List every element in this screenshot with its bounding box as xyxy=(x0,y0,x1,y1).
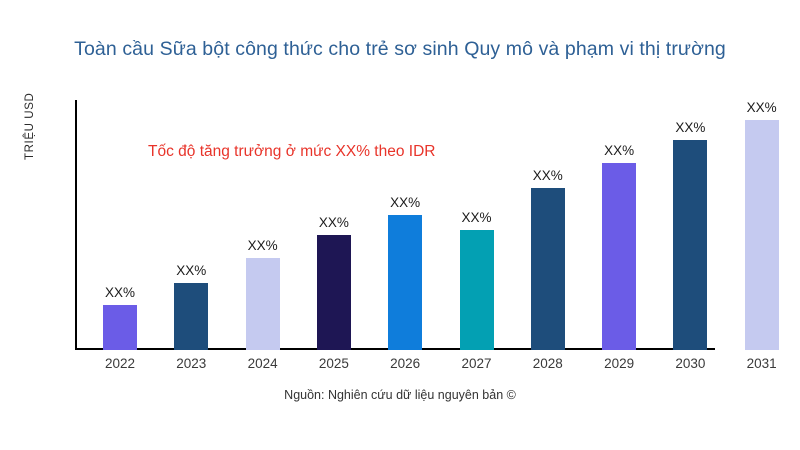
x-axis-tick-label: 2025 xyxy=(303,356,365,371)
x-axis-tick-label: 2023 xyxy=(160,356,222,371)
bar xyxy=(246,258,280,351)
x-axis-tick-label: 2026 xyxy=(374,356,436,371)
x-axis-tick-label: 2027 xyxy=(446,356,508,371)
bar xyxy=(388,215,422,350)
bar-value-label: XX% xyxy=(89,285,151,300)
bar xyxy=(460,230,494,350)
bar xyxy=(174,283,208,351)
x-axis-tick-label: 2031 xyxy=(731,356,793,371)
bar-value-label: XX% xyxy=(659,120,721,135)
bar-group: XX% xyxy=(673,100,707,350)
bar-group: XX% xyxy=(531,100,565,350)
bar-chart: Toàn cầu Sữa bột công thức cho trẻ sơ si… xyxy=(0,0,800,450)
bar-group: XX% xyxy=(602,100,636,350)
bars-container: XX%XX%XX%XX%XX%XX%XX%XX%XX%XX% xyxy=(75,100,795,350)
chart-title: Toàn cầu Sữa bột công thức cho trẻ sơ si… xyxy=(0,38,800,61)
bar-value-label: XX% xyxy=(517,168,579,183)
bar-group: XX% xyxy=(246,100,280,350)
bar xyxy=(531,188,565,351)
source-note: Nguồn: Nghiên cứu dữ liệu nguyên bản © xyxy=(0,388,800,402)
bar-group: XX% xyxy=(745,100,779,350)
bar-group: XX% xyxy=(388,100,422,350)
bar-group: XX% xyxy=(460,100,494,350)
bar-value-label: XX% xyxy=(446,210,508,225)
bar xyxy=(602,163,636,351)
y-axis-title: TRIỆU USD xyxy=(24,40,36,160)
bar-value-label: XX% xyxy=(731,100,793,115)
bar xyxy=(317,235,351,350)
bar xyxy=(103,305,137,350)
bar xyxy=(745,120,779,350)
bar-group: XX% xyxy=(103,100,137,350)
x-axis-tick-label: 2024 xyxy=(232,356,294,371)
x-axis-tick-label: 2029 xyxy=(588,356,650,371)
bar-group: XX% xyxy=(174,100,208,350)
bar-value-label: XX% xyxy=(232,238,294,253)
bar-value-label: XX% xyxy=(588,143,650,158)
bar xyxy=(673,140,707,350)
x-axis-tick-labels: 2022202320242025202620272028202920302031 xyxy=(75,356,795,378)
bar-value-label: XX% xyxy=(303,215,365,230)
x-axis-tick-label: 2022 xyxy=(89,356,151,371)
bar-group: XX% xyxy=(317,100,351,350)
x-axis-tick-label: 2028 xyxy=(517,356,579,371)
x-axis-tick-label: 2030 xyxy=(659,356,721,371)
bar-value-label: XX% xyxy=(374,195,436,210)
bar-value-label: XX% xyxy=(160,263,222,278)
